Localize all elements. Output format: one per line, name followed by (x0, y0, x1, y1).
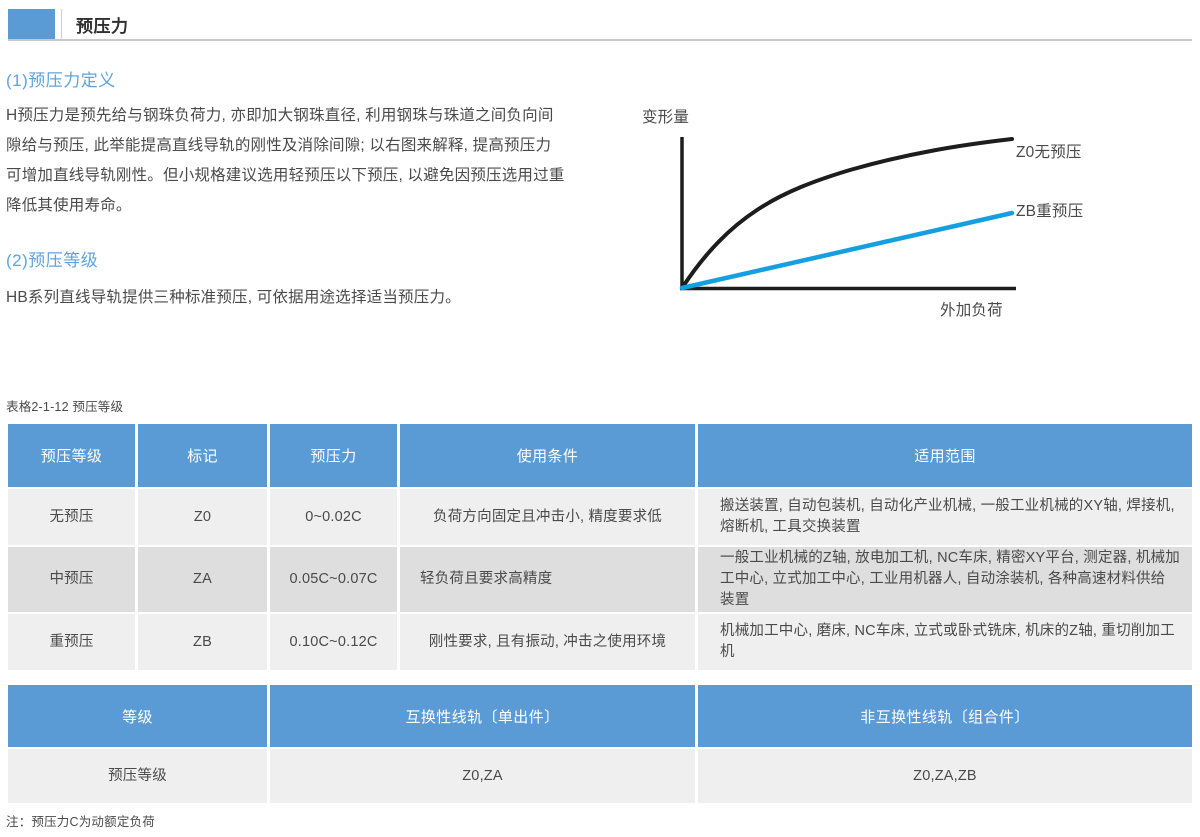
chart-curve-z0 (682, 139, 1012, 288)
cell-interchangeable: Z0,ZA (270, 747, 698, 803)
title-divider (55, 9, 62, 39)
page-title-bar: 预压力 (8, 9, 1192, 41)
document-page: 预压力 (1)预压力定义 H预压力是预先给与钢珠负荷力, 亦即加大钢珠直径, 利… (0, 0, 1200, 837)
table-row: 中预压 ZA 0.05C~0.07C 轻负荷且要求高精度 一般工业机械的Z轴, … (8, 545, 1192, 612)
preload-grade-table: 预压等级 标记 预压力 使用条件 适用范围 无预压 Z0 0~0.02C 负荷方… (8, 424, 1192, 670)
table-two-body: 预压等级 Z0,ZA Z0,ZA,ZB (8, 747, 1192, 803)
cell-mark: Z0 (138, 487, 270, 545)
cell-force: 0.05C~0.07C (270, 545, 400, 612)
chart-ylabel: 变形量 (642, 105, 689, 127)
cell-mark: ZA (138, 545, 270, 612)
col-header-grade: 预压等级 (8, 424, 138, 487)
page-title: 预压力 (62, 9, 1192, 39)
chart-series-label-z0: Z0无预压 (1016, 140, 1082, 162)
section-heading-definition: (1)预压力定义 (6, 66, 116, 91)
section-body-grades: HB系列直线导轨提供三种标准预压, 可依据用途选择适当预压力。 (6, 283, 566, 313)
chart-svg (620, 95, 1200, 335)
table-one-caption: 表格2-1-12 预压等级 (6, 396, 123, 415)
cell-grade: 重预压 (8, 612, 138, 670)
col-header-non-interchangeable: 非互换性线轨〔组合件〕 (698, 685, 1192, 747)
col-header-condition: 使用条件 (400, 424, 698, 487)
col-header-mark: 标记 (138, 424, 270, 487)
preload-deformation-chart: 变形量 外加负荷 Z0无预压 ZB重预压 (620, 95, 1200, 335)
preload-availability-table: 等级 互换性线轨〔单出件〕 非互换性线轨〔组合件〕 预压等级 Z0,ZA Z0,… (8, 685, 1192, 803)
section-heading-grades: (2)预压等级 (6, 246, 98, 271)
cell-condition: 轻负荷且要求高精度 (400, 545, 698, 612)
table-row: 无预压 Z0 0~0.02C 负荷方向固定且冲击小, 精度要求低 搬送装置, 自… (8, 487, 1192, 545)
cell-condition: 刚性要求, 且有振动, 冲击之使用环境 (400, 612, 698, 670)
col-header-level: 等级 (8, 685, 270, 747)
cell-application: 机械加工中心, 磨床, NC车床, 立式或卧式铣床, 机床的Z轴, 重切削加工机 (698, 612, 1192, 670)
table-two-head: 等级 互换性线轨〔单出件〕 非互换性线轨〔组合件〕 (8, 685, 1192, 747)
chart-curve-zb (682, 213, 1012, 288)
table-one-body: 无预压 Z0 0~0.02C 负荷方向固定且冲击小, 精度要求低 搬送装置, 自… (8, 487, 1192, 670)
title-accent-swatch (8, 9, 55, 39)
cell-mark: ZB (138, 612, 270, 670)
cell-non-interchangeable: Z0,ZA,ZB (698, 747, 1192, 803)
chart-series-label-zb: ZB重预压 (1016, 199, 1083, 221)
chart-xlabel: 外加负荷 (940, 298, 1003, 320)
table-header-row: 等级 互换性线轨〔单出件〕 非互换性线轨〔组合件〕 (8, 685, 1192, 747)
col-header-interchangeable: 互换性线轨〔单出件〕 (270, 685, 698, 747)
cell-application: 搬送装置, 自动包装机, 自动化产业机械, 一般工业机械的XY轴, 焊接机, 熔… (698, 487, 1192, 545)
table-header-row: 预压等级 标记 预压力 使用条件 适用范围 (8, 424, 1192, 487)
cell-force: 0~0.02C (270, 487, 400, 545)
cell-grade: 无预压 (8, 487, 138, 545)
col-header-application: 适用范围 (698, 424, 1192, 487)
cell-application: 一般工业机械的Z轴, 放电加工机, NC车床, 精密XY平台, 测定器, 机械加… (698, 545, 1192, 612)
table-one-head: 预压等级 标记 预压力 使用条件 适用范围 (8, 424, 1192, 487)
col-header-force: 预压力 (270, 424, 400, 487)
table-row: 预压等级 Z0,ZA Z0,ZA,ZB (8, 747, 1192, 803)
section-body-definition: H预压力是预先给与钢珠负荷力, 亦即加大钢珠直径, 利用钢珠与珠道之间负向间隙给… (6, 101, 566, 221)
table-footnote: 注：预压力C为动额定负荷 (6, 811, 155, 830)
table-row: 重预压 ZB 0.10C~0.12C 刚性要求, 且有振动, 冲击之使用环境 机… (8, 612, 1192, 670)
cell-level: 预压等级 (8, 747, 270, 803)
cell-force: 0.10C~0.12C (270, 612, 400, 670)
cell-condition: 负荷方向固定且冲击小, 精度要求低 (400, 487, 698, 545)
cell-grade: 中预压 (8, 545, 138, 612)
